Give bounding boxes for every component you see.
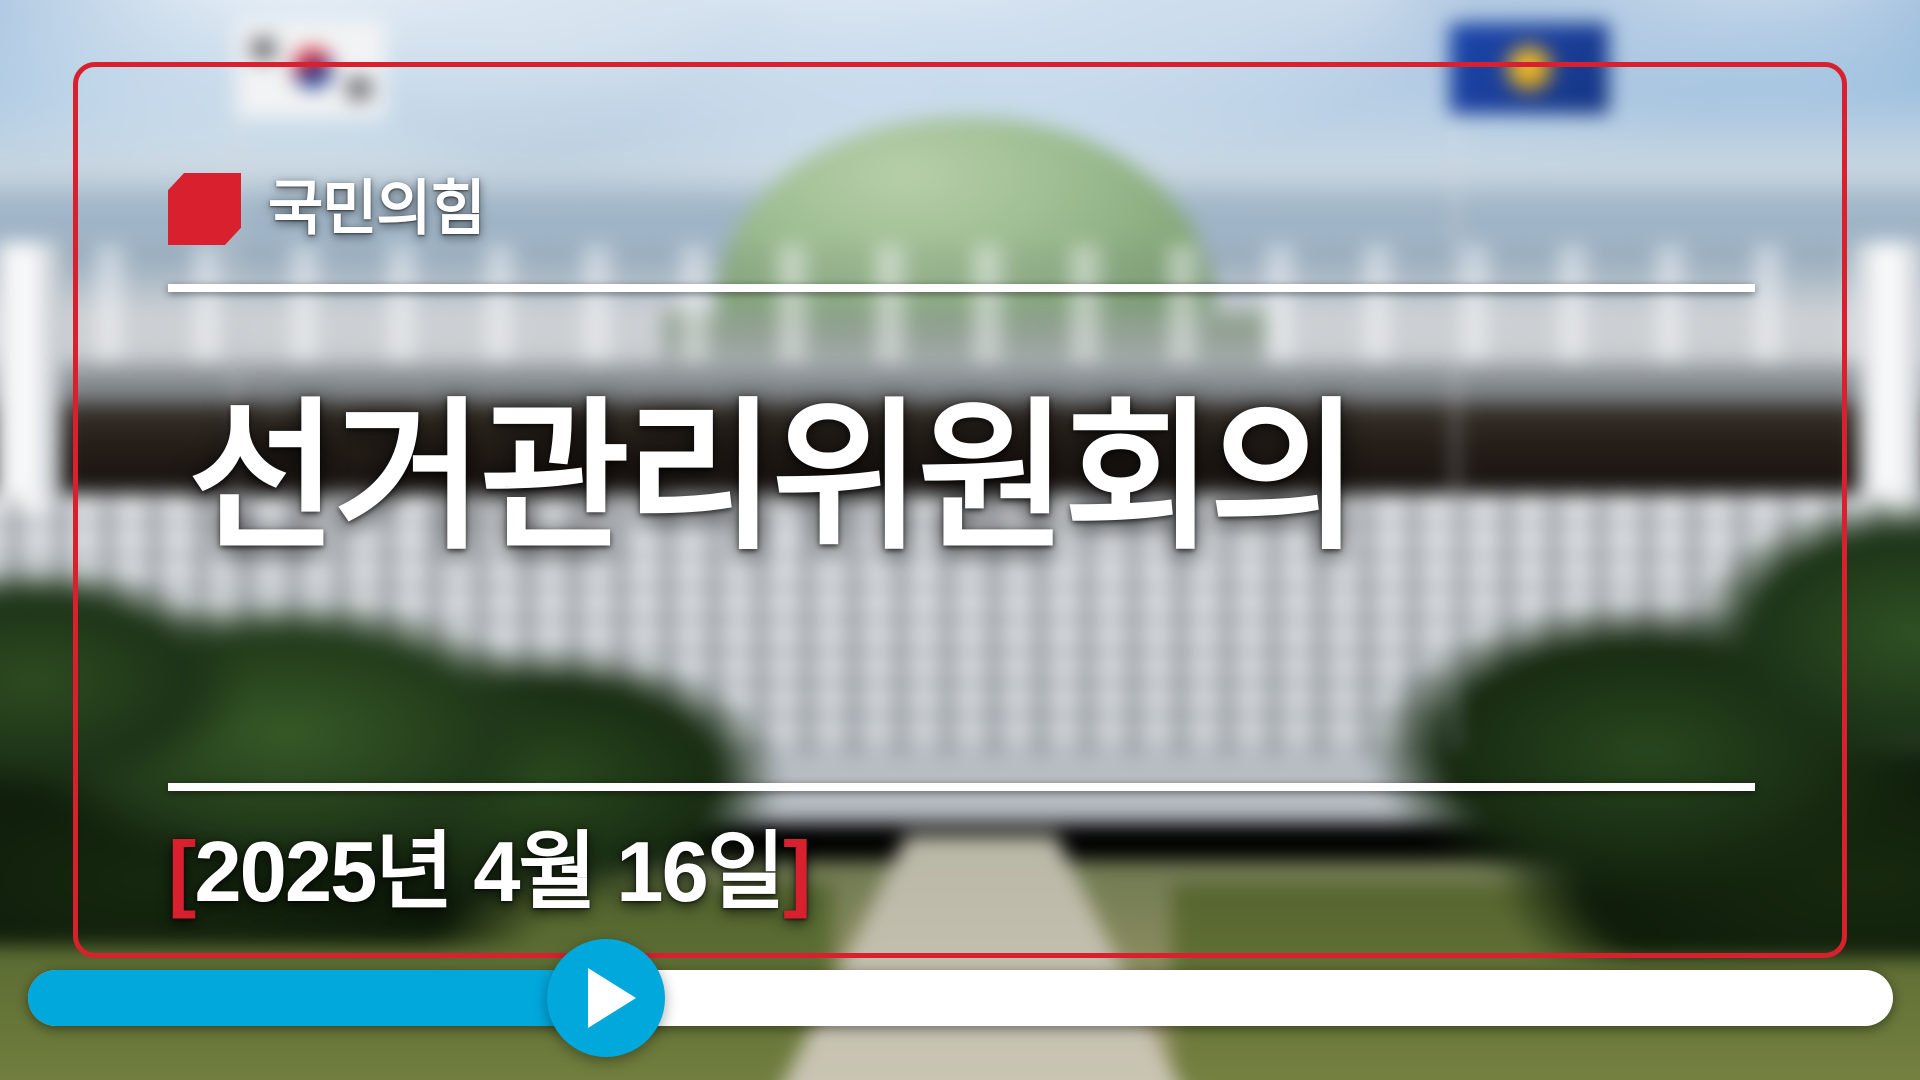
party-hexagon-logo-icon [168, 173, 241, 245]
play-triangle-icon [588, 968, 636, 1028]
progress-fill [28, 970, 606, 1026]
page-title: 선거관리위원회의 [188, 396, 1755, 559]
trigram-2 [252, 52, 276, 59]
play-button[interactable] [547, 939, 665, 1057]
date-value: 2025년 4월 16일 [194, 830, 783, 915]
date-label: [ 2025년 4월 16일 ] [168, 830, 809, 915]
divider-bottom [168, 783, 1755, 791]
party-logo-row: 국민의힘 [168, 173, 485, 245]
trigram-1 [252, 40, 276, 47]
video-scrubber[interactable] [28, 970, 1893, 1026]
date-close-bracket: ] [783, 830, 809, 915]
party-name-label: 국민의힘 [268, 179, 485, 239]
video-thumbnail-card: 국민의힘 선거관리위원회의 [ 2025년 4월 16일 ] [0, 0, 1920, 1080]
date-open-bracket: [ [168, 830, 194, 915]
divider-top [168, 284, 1755, 292]
column-left-2 [0, 242, 61, 512]
content-area: 국민의힘 선거관리위원회의 [ 2025년 4월 16일 ] [168, 62, 1755, 958]
